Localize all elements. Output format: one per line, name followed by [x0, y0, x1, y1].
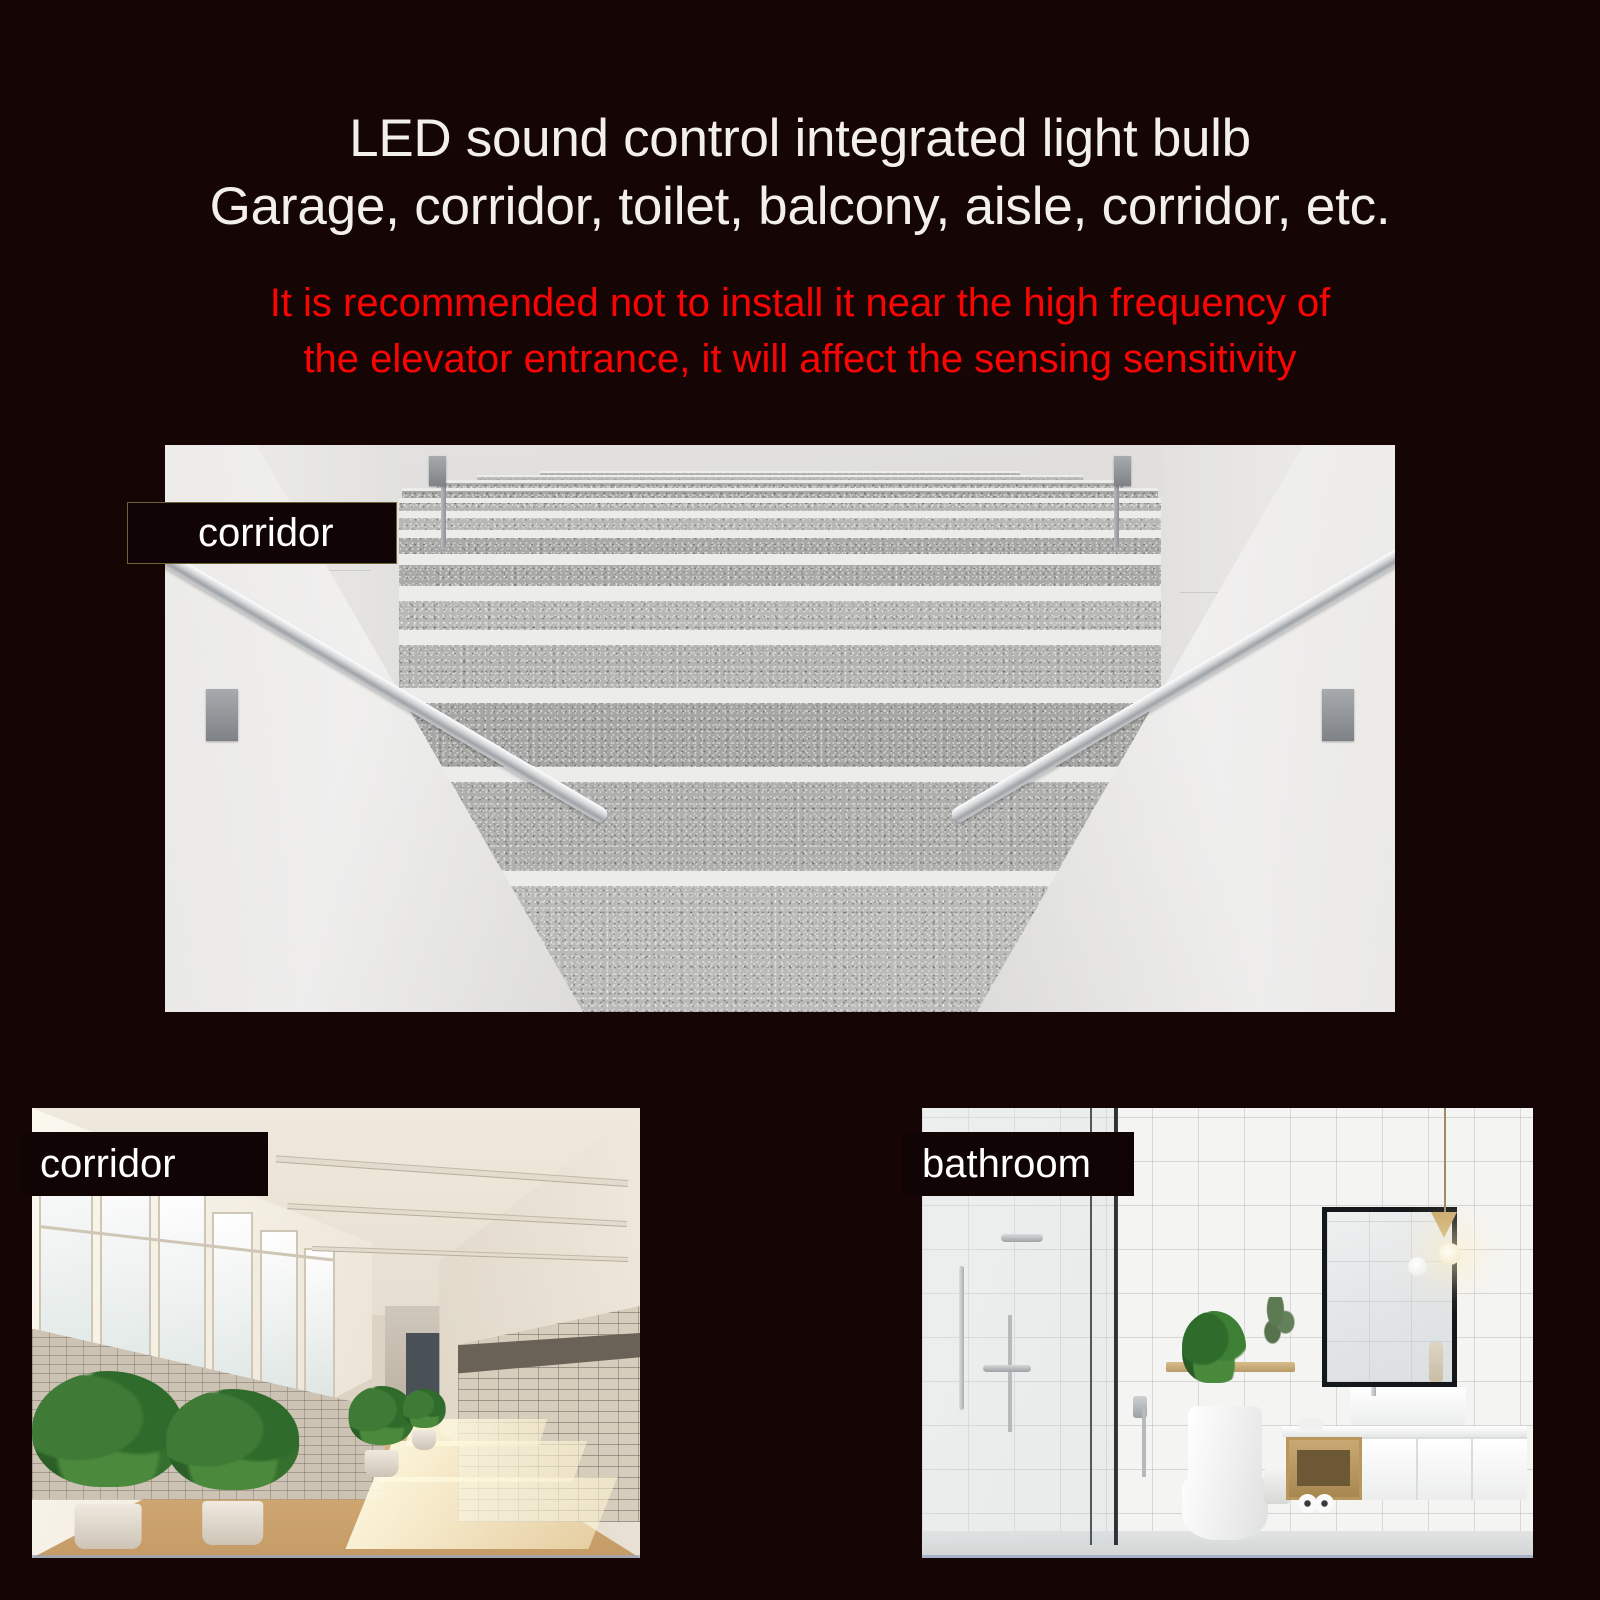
bathroom-secondary-bulb	[1408, 1257, 1427, 1276]
bathroom-open-shelf-box	[1286, 1437, 1362, 1500]
bathroom-pendant-shade	[1431, 1212, 1457, 1238]
bathroom-shower-hose	[1008, 1315, 1012, 1432]
staircase-step-nosing	[402, 488, 1158, 491]
bathroom-shower-slide-bar	[959, 1266, 964, 1410]
staircase-step-nosing	[540, 471, 1020, 473]
staircase-step-nosing	[437, 480, 1123, 483]
staircase-step	[402, 488, 1158, 498]
corridor-sunlight-patch-1	[346, 1477, 618, 1549]
staircase-step	[370, 498, 1190, 512]
headline-block: LED sound control integrated light bulb …	[0, 105, 1600, 241]
bathroom-towel-roll-2	[1315, 1494, 1334, 1513]
left-handrail-wall-bracket	[206, 689, 238, 741]
corridor-plant-4	[403, 1392, 446, 1451]
left-handrail-top-bracket	[429, 456, 446, 486]
staircase-photo-label: corridor	[127, 502, 397, 564]
staircase-photo-label-text: corridor	[198, 513, 334, 553]
corridor-photo-bottom-edge	[32, 1555, 640, 1558]
staircase-step	[340, 511, 1219, 529]
bathroom-toilet-bowl	[1182, 1474, 1268, 1540]
bathroom-pendant-cord	[1444, 1108, 1446, 1216]
bathroom-towel-roll-1	[1298, 1494, 1317, 1513]
bathroom-potted-plant	[1182, 1311, 1246, 1383]
bathroom-bidet-hose	[1142, 1405, 1146, 1477]
corridor-photo-label: corridor	[20, 1132, 268, 1196]
bathroom-pendant-bulb	[1439, 1243, 1461, 1265]
corridor-photo-label-text: corridor	[40, 1144, 176, 1184]
staircase-step-nosing	[370, 498, 1190, 503]
staircase-step-nosing	[340, 511, 1219, 517]
bathroom-dried-sprig	[1261, 1297, 1297, 1353]
bathroom-soap-dish	[1298, 1418, 1324, 1430]
corridor-plant-1	[32, 1387, 184, 1549]
headline-line-1: LED sound control integrated light bulb	[0, 105, 1600, 173]
corridor-far-door	[406, 1333, 442, 1396]
staircase-step-nosing	[286, 554, 1275, 565]
staircase-step-nosing	[260, 586, 1300, 601]
bathroom-photo-bottom-edge	[922, 1555, 1533, 1558]
bathroom-photo-label: bathroom	[902, 1132, 1134, 1196]
corridor-plant-2	[166, 1401, 300, 1545]
headline-line-2: Garage, corridor, toilet, balcony, aisle…	[0, 173, 1600, 241]
bathroom-photo-label-text: bathroom	[922, 1144, 1091, 1184]
bathroom-shower-mixer	[983, 1365, 1031, 1372]
staircase-step	[312, 530, 1247, 554]
right-handrail-top-bracket	[1114, 456, 1131, 486]
bathroom-vanity-cabinet	[1362, 1437, 1527, 1500]
bathroom-hanging-towel	[1429, 1342, 1443, 1382]
right-handrail-wall-bracket	[1322, 689, 1354, 741]
warning-block: It is recommended not to install it near…	[0, 275, 1600, 387]
warning-line-1: It is recommended not to install it near…	[0, 275, 1600, 331]
staircase-step-nosing	[312, 530, 1247, 538]
bathroom-toilet-tank	[1188, 1406, 1262, 1482]
staircase-step-nosing	[477, 475, 1082, 477]
staircase-step	[437, 480, 1123, 488]
bathroom-basin	[1350, 1387, 1466, 1425]
warning-line-2: the elevator entrance, it will affect th…	[0, 331, 1600, 387]
bathroom-shower-head	[1001, 1234, 1043, 1242]
staircase-step	[286, 554, 1275, 587]
staircase-step	[260, 586, 1300, 630]
